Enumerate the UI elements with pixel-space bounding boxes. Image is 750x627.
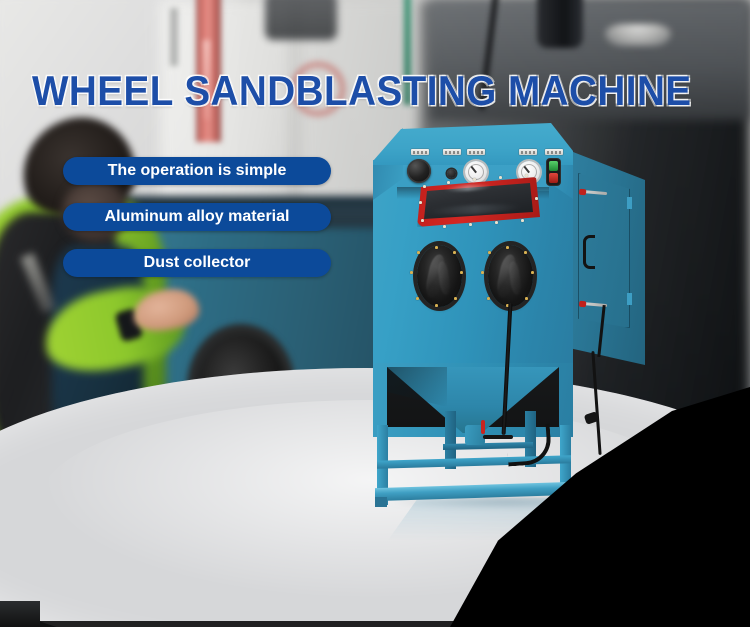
window-bolt — [419, 201, 422, 204]
window-bolt — [443, 225, 446, 228]
window-bolt — [423, 185, 426, 188]
glove-port-bolt — [525, 297, 528, 300]
glove-port-bolt — [488, 251, 491, 254]
ceiling-lamp-icon — [605, 24, 671, 46]
glove-port-bolt — [435, 304, 438, 307]
valve-red-lever[interactable] — [481, 420, 485, 434]
window-bolt — [469, 223, 472, 226]
feature-badge-2: Aluminum alloy material — [63, 203, 331, 231]
ceiling-rail — [170, 8, 178, 66]
power-cord — [591, 351, 601, 455]
feature-badge-1: The operation is simple — [63, 157, 331, 185]
window-bolt — [535, 197, 538, 200]
stop-switch-red[interactable] — [549, 173, 558, 183]
frame-base-bar — [375, 482, 573, 501]
control-label-plate-1 — [411, 149, 429, 155]
feature-badge-3: Dust collector — [63, 249, 331, 277]
window-bolt — [447, 181, 450, 184]
window-bolt — [495, 221, 498, 224]
glove-port-bolt — [453, 251, 456, 254]
machine-foot-left — [375, 497, 387, 507]
glove-port-bolt — [524, 251, 527, 254]
glove-port-bolt — [531, 271, 534, 274]
glove-port-bolt — [435, 246, 438, 249]
sandblasting-machine — [355, 125, 645, 515]
glove-port-bolt — [410, 271, 413, 274]
start-stop-switch[interactable] — [547, 159, 560, 185]
control-label-plate-4 — [519, 149, 537, 155]
main-power-knob[interactable] — [407, 159, 431, 183]
glove-port-bolt — [417, 251, 420, 254]
glove-port-bolt — [506, 246, 509, 249]
dust-collector-cylinder — [537, 0, 583, 48]
glove-port-bolt — [454, 297, 457, 300]
window-bolt — [473, 178, 476, 181]
overhead-cylinder — [265, 0, 337, 40]
window-bolt — [521, 219, 524, 222]
control-label-plate-5 — [545, 149, 563, 155]
indicator-button[interactable] — [447, 169, 456, 178]
glove-port-bolt — [481, 271, 484, 274]
product-banner: WHEEL SANDBLASTING MACHINE The operation… — [0, 0, 750, 627]
feature-badge-list: The operation is simple Aluminum alloy m… — [63, 157, 331, 277]
glove-port-bolt — [460, 271, 463, 274]
window-bolt — [421, 219, 424, 222]
glove-port-bolt — [487, 297, 490, 300]
window-bolt — [525, 174, 528, 177]
door-hinge-bottom — [627, 293, 632, 305]
window-bolt — [499, 176, 502, 179]
control-label-plate-3 — [467, 149, 485, 155]
glove-port-bolt — [416, 297, 419, 300]
start-switch-green[interactable] — [549, 161, 558, 171]
door-hinge-top — [627, 197, 632, 209]
door-handle-icon — [583, 235, 595, 269]
black-corner-bottom-left — [0, 601, 40, 627]
control-label-plate-2 — [443, 149, 461, 155]
page-title: WHEEL SANDBLASTING MACHINE — [32, 70, 692, 112]
pressure-gauge-left — [465, 161, 487, 183]
